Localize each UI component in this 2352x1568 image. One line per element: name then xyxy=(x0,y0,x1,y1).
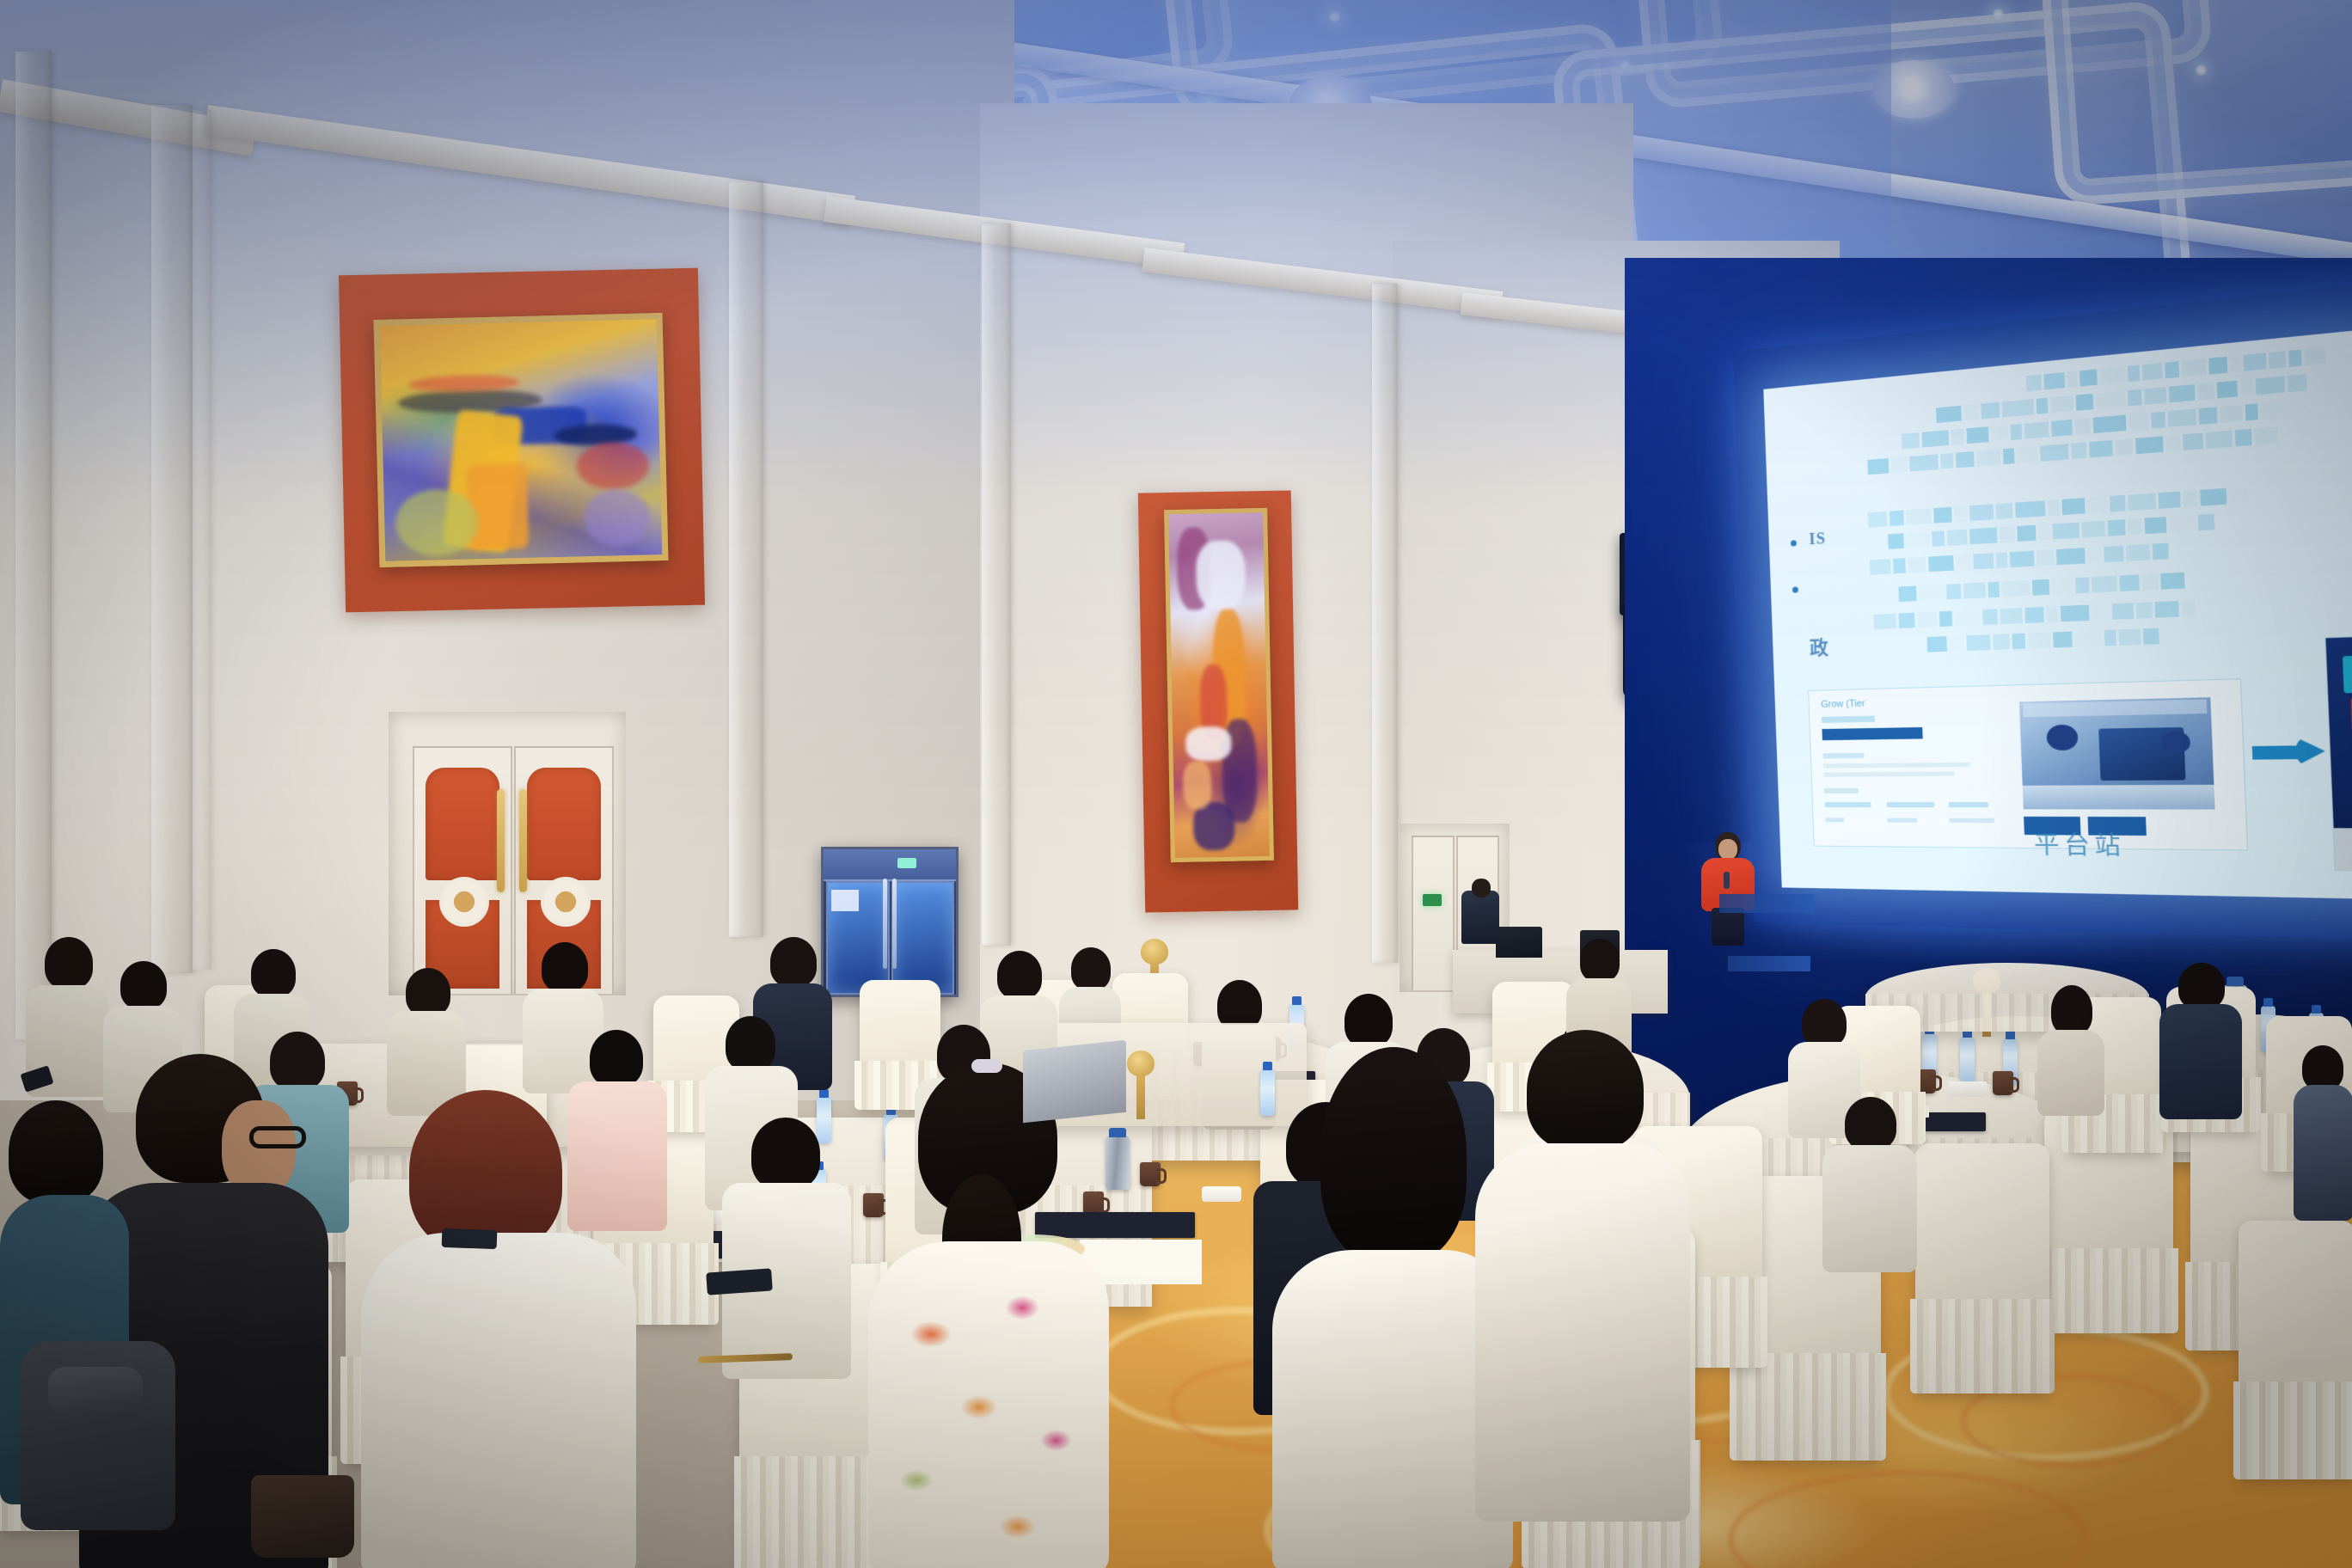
painting-abstract-portrait xyxy=(1164,508,1274,862)
redacted-block xyxy=(1969,504,1994,521)
redacted-block xyxy=(2145,517,2167,534)
wall-banner xyxy=(1719,894,1814,913)
redacted-block xyxy=(2230,355,2241,372)
redacted-block xyxy=(2067,371,2078,388)
redacted-block xyxy=(2269,351,2286,369)
audience-member xyxy=(1822,1097,1917,1269)
redacted-text-line xyxy=(1873,600,2199,629)
wall-pilaster xyxy=(193,110,211,970)
door-handle[interactable] xyxy=(519,789,527,892)
ceiling-downlight xyxy=(2196,64,2207,76)
redacted-block xyxy=(1996,552,2008,568)
redacted-block xyxy=(2052,578,2073,594)
redacted-block xyxy=(2136,602,2153,618)
slide-card-col-val xyxy=(1825,818,1844,822)
redacted-block xyxy=(2000,608,2022,624)
redacted-block xyxy=(2028,633,2051,649)
redacted-block xyxy=(2254,427,2277,445)
redacted-block xyxy=(2074,630,2102,646)
redacted-block xyxy=(1870,559,1891,575)
wall-pilaster xyxy=(982,224,1011,946)
napkin xyxy=(1202,1186,1241,1202)
redacted-block xyxy=(1969,528,1997,545)
redacted-block xyxy=(1890,511,1904,527)
redacted-block xyxy=(2050,395,2073,413)
painting-canvas xyxy=(380,319,663,561)
redacted-text-line xyxy=(1926,628,2162,652)
redacted-block xyxy=(1947,530,1968,546)
redacted-block xyxy=(2061,605,2090,622)
redacted-block xyxy=(2037,549,2054,566)
redacted-text-line xyxy=(1898,573,2188,602)
audience-member-foreground xyxy=(361,1090,636,1568)
redacted-block xyxy=(1996,503,2013,519)
banquet-chair[interactable] xyxy=(1915,1143,2049,1393)
redacted-block xyxy=(2110,495,2126,512)
redacted-block xyxy=(2076,394,2094,411)
redacted-block xyxy=(1966,426,1988,444)
redacted-block xyxy=(1902,432,1920,449)
redacted-block xyxy=(2135,436,2164,454)
redacted-block xyxy=(2048,499,2060,516)
redacted-block xyxy=(2197,383,2214,400)
redacted-block xyxy=(2056,548,2086,565)
redacted-block xyxy=(1988,582,1999,597)
slide-card-line xyxy=(1823,753,1865,759)
slide-card-line xyxy=(1824,788,1859,793)
redacted-block xyxy=(2165,435,2180,452)
cooler-door-right[interactable] xyxy=(891,881,955,995)
redacted-block xyxy=(2010,424,2022,440)
redacted-block xyxy=(2169,384,2196,402)
laptop-screen[interactable] xyxy=(1023,1040,1126,1124)
tea-mug[interactable] xyxy=(1993,1071,2013,1095)
redacted-block xyxy=(2183,433,2203,450)
redacted-block xyxy=(2092,576,2117,593)
redacted-block xyxy=(2075,418,2091,435)
cooler-header xyxy=(824,849,956,881)
redacted-block xyxy=(2153,543,2169,560)
redacted-block xyxy=(2128,518,2142,535)
redacted-block xyxy=(1909,454,1939,471)
audience-member xyxy=(2294,1045,2352,1217)
redacted-block xyxy=(1936,406,1962,423)
slide-card-col-val xyxy=(1949,818,1994,823)
ceiling-downlight xyxy=(1620,60,1631,71)
redacted-block xyxy=(2159,492,2181,509)
redacted-block xyxy=(1991,425,2008,441)
redacted-block xyxy=(1921,430,1949,447)
ballroom-door-secondary-left[interactable] xyxy=(1412,836,1455,992)
redacted-block xyxy=(2256,377,2285,395)
redacted-block xyxy=(2155,601,2179,618)
redacted-block xyxy=(1981,402,2000,420)
redacted-block xyxy=(2128,413,2148,430)
hair-tie xyxy=(971,1059,1002,1073)
redacted-block xyxy=(2015,500,2045,518)
door-handle[interactable] xyxy=(497,789,505,892)
redacted-block xyxy=(2037,398,2049,414)
redacted-block xyxy=(2024,421,2049,438)
cooler-display xyxy=(897,858,916,868)
redacted-block xyxy=(2128,365,2140,383)
redacted-block xyxy=(2206,431,2233,449)
audience-member xyxy=(722,1118,851,1375)
door-medallion xyxy=(439,877,489,927)
redacted-block xyxy=(2144,387,2166,405)
redacted-block xyxy=(2082,521,2105,538)
eyeglasses-icon xyxy=(249,1126,306,1148)
slide-card-line xyxy=(1823,763,1970,769)
redacted-block xyxy=(1955,609,1981,626)
redacted-block xyxy=(1956,554,1970,571)
painting-abstract-landscape xyxy=(374,313,669,567)
redacted-block xyxy=(2183,490,2197,507)
redacted-block xyxy=(2087,496,2107,513)
painting-canvas xyxy=(1168,512,1270,858)
cooler-handle[interactable] xyxy=(883,879,887,969)
ceiling-downlight xyxy=(1329,11,1340,22)
wall-pilaster xyxy=(151,105,193,973)
door-medallion xyxy=(541,877,591,927)
redacted-block xyxy=(2026,375,2042,392)
redacted-block xyxy=(1868,511,1888,528)
redacted-block xyxy=(1928,555,1954,572)
redacted-block xyxy=(2142,363,2163,381)
redacted-block xyxy=(2017,525,2036,542)
backpack-pocket xyxy=(48,1367,143,1415)
redacted-block xyxy=(2093,415,2127,434)
audience-member-foreground xyxy=(868,1063,1109,1568)
exit-sign xyxy=(1423,894,1442,906)
redacted-block xyxy=(2043,372,2065,389)
presenter xyxy=(1698,832,1760,944)
redacted-block xyxy=(1906,508,1931,524)
conference-hall-scene: IS 政 Grow (Tier xyxy=(0,0,2352,1568)
slide-card-title: Grow (Tier xyxy=(1821,698,1865,709)
redacted-block xyxy=(2235,429,2252,446)
cooler-label xyxy=(831,890,859,912)
redacted-block xyxy=(1933,507,1951,524)
water-bottle[interactable] xyxy=(1960,1037,1975,1083)
ceiling-coffer xyxy=(2037,0,2352,207)
redacted-block xyxy=(2108,519,2126,536)
redacted-block xyxy=(2217,381,2238,399)
redacted-block xyxy=(1873,614,1896,630)
redacted-block xyxy=(2169,515,2196,532)
redacted-block xyxy=(1949,635,1963,651)
redacted-block xyxy=(1919,585,1945,601)
redacted-block xyxy=(1956,451,1975,468)
redacted-block xyxy=(2151,412,2165,429)
redacted-block xyxy=(2160,573,2184,590)
redacted-block xyxy=(2079,369,2098,386)
wall-pilaster xyxy=(729,181,763,937)
redacted-block xyxy=(2115,438,2133,456)
redacted-block xyxy=(2096,390,2125,408)
redacted-block xyxy=(2032,579,2049,596)
table-number-stand xyxy=(1136,1071,1145,1119)
redacted-block xyxy=(1963,404,1979,420)
wall-pilaster xyxy=(15,52,52,1040)
redacted-block xyxy=(1966,634,1990,651)
redacted-block xyxy=(2053,632,2073,648)
redacted-block xyxy=(2182,358,2207,377)
redacted-block xyxy=(1993,634,2010,650)
redacted-block xyxy=(2182,600,2196,616)
slide-card-line xyxy=(1823,771,1954,776)
arrow-right-icon xyxy=(2251,737,2325,767)
redacted-block xyxy=(2104,546,2123,563)
av-operator-head xyxy=(1472,879,1491,897)
app-banner xyxy=(2343,654,2352,693)
redacted-block xyxy=(2165,361,2179,378)
wall-banner xyxy=(1728,956,1810,971)
redacted-block xyxy=(1939,611,1952,627)
slide-card-col xyxy=(1825,802,1871,807)
redacted-block xyxy=(2099,366,2125,384)
microphone-icon xyxy=(1724,872,1730,889)
redacted-block xyxy=(2261,401,2288,420)
redacted-block xyxy=(1906,531,1929,548)
redacted-block xyxy=(1917,611,1937,628)
banquet-chair[interactable] xyxy=(2239,1221,2352,1479)
redacted-block xyxy=(2000,526,2015,542)
redacted-block xyxy=(2071,442,2086,459)
ceiling-rosette xyxy=(1872,60,1955,119)
redacted-block xyxy=(2053,522,2080,539)
redacted-block xyxy=(2126,544,2150,561)
redacted-block xyxy=(2038,524,2050,541)
redacted-block xyxy=(2024,607,2043,623)
redacted-block xyxy=(2142,573,2159,590)
redacted-block xyxy=(2010,551,2035,568)
redacted-block xyxy=(1940,453,1953,469)
redacted-block xyxy=(2288,349,2301,366)
audience-member xyxy=(2159,963,2242,1118)
redacted-block xyxy=(2061,498,2085,515)
redacted-block xyxy=(2002,399,2034,417)
redacted-block xyxy=(1891,456,1908,473)
thermos-flask[interactable] xyxy=(1106,1136,1130,1190)
redacted-block xyxy=(1908,557,1926,573)
redacted-block xyxy=(2229,487,2248,504)
slide-sub-glyph: 政 xyxy=(1809,632,1829,660)
redacted-block xyxy=(1932,530,1945,547)
audience-member xyxy=(2037,985,2104,1114)
redacted-block xyxy=(1926,636,1946,652)
redacted-block xyxy=(1976,450,2000,467)
redacted-block xyxy=(2208,357,2227,375)
door-panel xyxy=(527,768,600,881)
redacted-block xyxy=(1867,458,1889,475)
redacted-block xyxy=(2017,446,2037,463)
slide-card-col xyxy=(1948,802,1988,807)
presenter-legs xyxy=(1712,908,1744,946)
redacted-block xyxy=(1888,533,1904,549)
slide-card-photo xyxy=(2019,697,2215,809)
redacted-block xyxy=(2128,493,2156,511)
slide-card-col xyxy=(1887,802,1935,807)
redacted-block xyxy=(2003,448,2015,464)
redacted-block xyxy=(2198,514,2214,531)
door-panel xyxy=(426,768,499,881)
slide-card-meta xyxy=(1822,716,1875,723)
redacted-block xyxy=(2128,389,2142,407)
redacted-block xyxy=(1973,553,1994,569)
redacted-block xyxy=(2199,407,2218,424)
redacted-block xyxy=(2112,603,2135,619)
redacted-block xyxy=(2075,577,2089,593)
redacted-block xyxy=(2092,604,2110,621)
redacted-block xyxy=(1963,582,1986,598)
redacted-block xyxy=(2168,409,2196,427)
redacted-block xyxy=(1951,429,1964,445)
redacted-block xyxy=(2051,420,2073,437)
redacted-block xyxy=(2046,606,2058,622)
slide-bullet-glyph: IS xyxy=(1809,530,1826,549)
redacted-block xyxy=(2104,630,2116,646)
redacted-block xyxy=(2240,379,2253,396)
redacted-block xyxy=(2220,405,2243,423)
redacted-block xyxy=(2001,580,2030,597)
redacted-block xyxy=(2243,352,2266,371)
av-operator xyxy=(1461,891,1499,944)
ceiling-downlight xyxy=(1993,9,2004,20)
smartphone[interactable] xyxy=(442,1228,498,1249)
tea-mug[interactable] xyxy=(1140,1162,1161,1186)
projection-screen[interactable]: IS 政 Grow (Tier xyxy=(1763,326,2352,900)
redacted-block xyxy=(1899,613,1915,628)
redacted-block xyxy=(2245,403,2258,420)
redacted-block xyxy=(1946,584,1961,600)
cooler-door-left[interactable] xyxy=(826,881,890,995)
beverage-cooler[interactable] xyxy=(821,847,959,997)
redacted-block xyxy=(2087,547,2101,563)
redacted-block xyxy=(2040,444,2069,462)
wall-pilaster xyxy=(1372,284,1398,963)
slide-content: IS 政 Grow (Tier xyxy=(1763,326,2352,900)
audience-member-foreground xyxy=(1475,1030,1690,1511)
cooler-handle[interactable] xyxy=(892,879,897,969)
slide-card-badge xyxy=(1822,727,1922,740)
slide-card-col-val xyxy=(1887,818,1917,823)
redacted-block xyxy=(2119,628,2141,645)
smartphone[interactable] xyxy=(706,1268,773,1295)
handbag[interactable] xyxy=(251,1475,354,1558)
laptop[interactable] xyxy=(1496,927,1542,958)
slide-bullet-marker xyxy=(1792,586,1798,592)
slide-bullet-marker xyxy=(1791,540,1797,546)
redacted-block xyxy=(1898,586,1916,603)
presenter-face xyxy=(1718,839,1737,860)
redacted-block xyxy=(2119,574,2139,591)
napkin xyxy=(1948,1081,1988,1097)
redacted-block xyxy=(1982,609,1998,625)
redacted-block xyxy=(2012,634,2025,650)
redacted-block xyxy=(2143,628,2159,645)
redacted-block xyxy=(1893,558,1906,573)
slide-caption: 平台站 xyxy=(1779,824,2352,865)
redacted-block xyxy=(1954,505,1967,522)
redacted-block xyxy=(2288,374,2307,392)
redacted-block xyxy=(2304,347,2325,365)
redacted-block xyxy=(2200,488,2226,506)
redacted-block xyxy=(2089,440,2113,457)
